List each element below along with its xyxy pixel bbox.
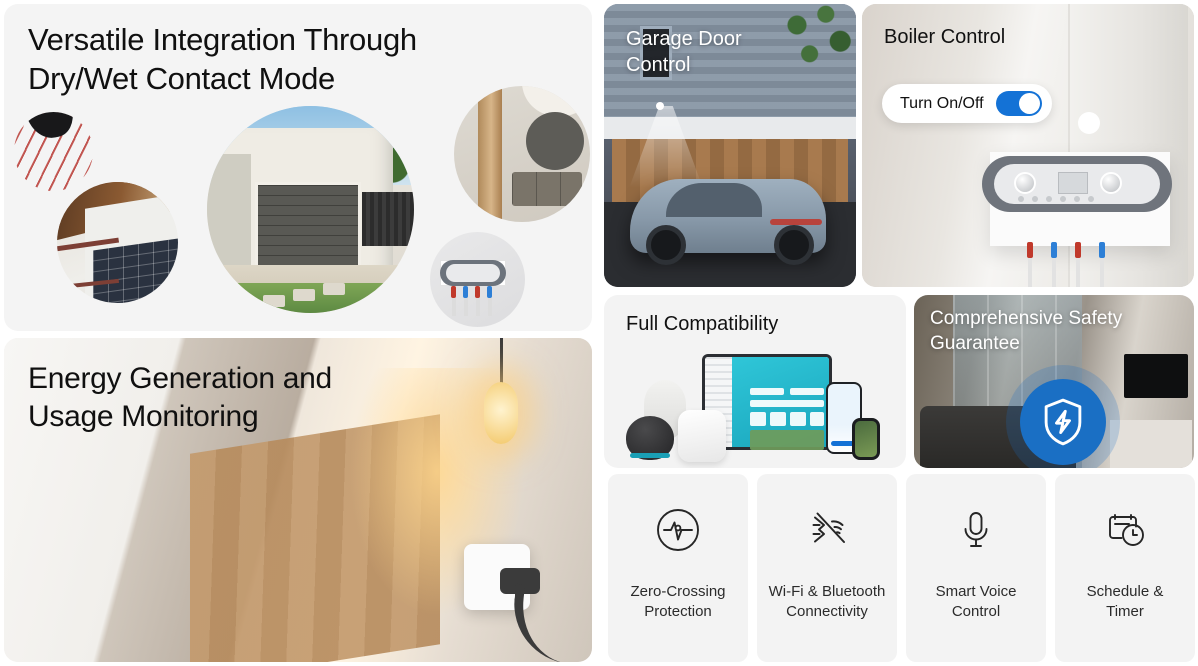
car-wheel xyxy=(774,225,814,265)
energy-monitoring-title: Energy Generation and Usage Monitoring xyxy=(28,360,332,436)
path-slab xyxy=(263,295,285,307)
car-wheel xyxy=(646,225,686,265)
product-feature-collage: Versatile Integration Through Dry/Wet Co… xyxy=(0,0,1198,666)
garage-door xyxy=(255,182,361,268)
ivy-plants xyxy=(770,4,856,88)
compatible-devices-photo xyxy=(626,344,900,466)
zero-crossing-icon xyxy=(650,502,706,558)
wall-switches xyxy=(512,172,582,206)
feature-card-wifi-bluetooth[interactable]: Wi-Fi & Bluetooth Connectivity xyxy=(757,474,897,662)
boiler-knob-left xyxy=(1014,172,1036,194)
echo-dot-speaker xyxy=(626,416,674,460)
calendar-clock-icon xyxy=(1097,502,1153,558)
full-compatibility-title: Full Compatibility xyxy=(626,311,778,337)
path-slab xyxy=(293,289,315,301)
boiler-display xyxy=(1058,172,1088,194)
boiler-face xyxy=(446,264,500,282)
garage-lintel xyxy=(604,117,856,139)
floor-heating-wire-photo xyxy=(14,112,93,191)
wood-post xyxy=(478,86,502,222)
wall-boiler-photo xyxy=(430,232,525,327)
wifi-bluetooth-icon xyxy=(799,502,855,558)
round-fixture xyxy=(526,112,584,170)
boiler-control-title: Boiler Control xyxy=(884,24,1005,50)
safety-guarantee-title: Comprehensive Safety Guarantee xyxy=(930,307,1122,356)
boiler-control-card: Boiler Control Turn On/Off xyxy=(862,4,1194,287)
feature-card-voice-control[interactable]: Smart Voice Control xyxy=(906,474,1046,662)
wall-switch-panel-photo xyxy=(454,86,590,222)
turn-on-off-toggle[interactable]: Turn On/Off xyxy=(882,84,1052,123)
feature-label: Zero-Crossing Protection xyxy=(630,582,725,622)
television xyxy=(1124,354,1188,398)
boiler-knob-right xyxy=(1100,172,1122,194)
garage-door-title: Garage Door Control xyxy=(626,26,742,78)
energy-monitoring-panel: Energy Generation and Usage Monitoring E… xyxy=(4,338,592,662)
house-wing xyxy=(207,154,251,270)
versatile-integration-title: Versatile Integration Through Dry/Wet Co… xyxy=(28,20,417,98)
safety-guarantee-card: Comprehensive Safety Guarantee xyxy=(914,295,1194,468)
solar-panel-roof-photo xyxy=(57,182,178,303)
cabinet xyxy=(1110,420,1192,468)
microphone-icon xyxy=(948,502,1004,558)
toggle-label: Turn On/Off xyxy=(900,95,984,113)
fence xyxy=(362,192,414,246)
smartwatch xyxy=(852,418,880,460)
toggle-knob xyxy=(1019,93,1040,114)
full-compatibility-card: Full Compatibility xyxy=(604,295,906,468)
shield-bolt-icon xyxy=(1020,379,1106,465)
toggle-switch[interactable] xyxy=(996,91,1042,116)
versatile-integration-panel: Versatile Integration Through Dry/Wet Co… xyxy=(4,4,592,331)
car-taillight xyxy=(770,219,822,225)
feature-card-schedule-timer[interactable]: Schedule & Timer xyxy=(1055,474,1195,662)
decorative-dot xyxy=(1078,112,1100,134)
feature-label: Wi-Fi & Bluetooth Connectivity xyxy=(769,582,886,622)
car-cabin xyxy=(666,183,762,217)
feature-card-zero-crossing[interactable]: Zero-Crossing Protection xyxy=(608,474,748,662)
feature-label: Schedule & Timer xyxy=(1087,582,1164,622)
feature-label: Smart Voice Control xyxy=(936,582,1017,622)
lamp-cord xyxy=(500,338,503,384)
path-slab xyxy=(323,283,345,295)
modern-house-garage-photo xyxy=(207,106,414,313)
garage-door-control-card: Garage Door Control xyxy=(604,4,856,287)
light-bulb xyxy=(484,382,518,444)
smart-hub xyxy=(678,410,726,462)
